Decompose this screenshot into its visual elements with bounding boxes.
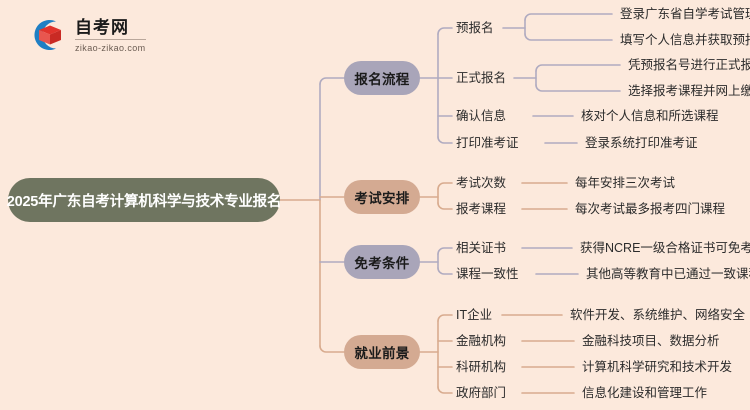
- leaf-item-label[interactable]: 登录广东省自学考试管理系统: [620, 7, 750, 21]
- sub-item-label[interactable]: 确认信息: [456, 109, 506, 123]
- connector-line: [438, 248, 452, 254]
- connector-line: [536, 65, 620, 71]
- branch-node-3[interactable]: 免考条件: [344, 245, 420, 279]
- connector-line: [438, 203, 452, 209]
- logo-text-block: 自考网 zikao-zikao.com: [75, 16, 146, 55]
- connector-line: [320, 78, 344, 84]
- connector-line: [438, 137, 452, 143]
- leaf-item-label[interactable]: 填写个人信息并获取预报名号: [620, 33, 750, 47]
- leaf-item-label[interactable]: 核对个人信息和所选课程: [581, 109, 719, 123]
- sub-item-label[interactable]: 正式报名: [456, 71, 506, 85]
- branch-node-1[interactable]: 报名流程: [344, 61, 420, 95]
- sub-item-label[interactable]: 科研机构: [456, 360, 506, 374]
- sub-item-label[interactable]: IT企业: [456, 308, 492, 322]
- sub-item-label[interactable]: 预报名: [456, 21, 494, 35]
- sub-item-label[interactable]: 相关证书: [456, 241, 506, 255]
- connector-line: [320, 346, 344, 352]
- sub-item-label[interactable]: 报考课程: [456, 202, 506, 216]
- connector-line: [438, 28, 452, 34]
- sub-item-label[interactable]: 金融机构: [456, 334, 506, 348]
- leaf-item-label[interactable]: 每年安排三次考试: [575, 176, 675, 190]
- leaf-item-label[interactable]: 计算机科学研究和技术开发: [582, 360, 732, 374]
- branch-node-label: 报名流程: [354, 68, 409, 88]
- branch-node-label: 就业前景: [354, 342, 409, 362]
- branch-node-2[interactable]: 考试安排: [344, 180, 420, 214]
- leaf-item-label[interactable]: 其他高等教育中已通过一致课程可免考: [586, 267, 750, 281]
- leaf-item-label[interactable]: 信息化建设和管理工作: [582, 386, 707, 400]
- connector-line: [438, 268, 452, 274]
- connector-line: [438, 387, 452, 393]
- leaf-item-label[interactable]: 获得NCRE一级合格证书可免考: [580, 241, 750, 255]
- leaf-item-label[interactable]: 登录系统打印准考证: [585, 136, 698, 150]
- branch-node-label: 免考条件: [354, 252, 409, 272]
- connector-line: [438, 183, 452, 189]
- sub-item-label[interactable]: 课程一致性: [456, 267, 519, 281]
- sub-item-label[interactable]: 打印准考证: [456, 136, 519, 150]
- branch-node-4[interactable]: 就业前景: [344, 335, 420, 369]
- logo-domain: zikao-zikao.com: [75, 40, 146, 55]
- sub-item-label[interactable]: 考试次数: [456, 176, 506, 190]
- brand-logo: 自考网 zikao-zikao.com: [26, 12, 166, 58]
- sub-item-label[interactable]: 政府部门: [456, 386, 506, 400]
- mindmap-canvas: 自考网 zikao-zikao.com 2025年广东自考计算机科学与技术专业报…: [0, 0, 750, 410]
- leaf-item-label[interactable]: 每次考试最多报考四门课程: [575, 202, 725, 216]
- connector-line: [536, 85, 620, 91]
- leaf-item-label[interactable]: 选择报考课程并网上缴费: [628, 84, 750, 98]
- connector-line: [525, 34, 612, 40]
- connector-line: [438, 315, 452, 321]
- leaf-item-label[interactable]: 金融科技项目、数据分析: [582, 334, 720, 348]
- connector-line: [525, 14, 612, 20]
- logo-title: 自考网: [75, 18, 146, 40]
- center-node[interactable]: 2025年广东自考计算机科学与技术专业报名: [8, 178, 280, 222]
- leaf-item-label[interactable]: 凭预报名号进行正式报名: [628, 58, 750, 72]
- graduation-book-icon: [26, 14, 68, 56]
- center-node-label: 2025年广东自考计算机科学与技术专业报名: [7, 190, 282, 211]
- leaf-item-label[interactable]: 软件开发、系统维护、网络安全: [570, 308, 745, 322]
- branch-node-label: 考试安排: [354, 187, 409, 207]
